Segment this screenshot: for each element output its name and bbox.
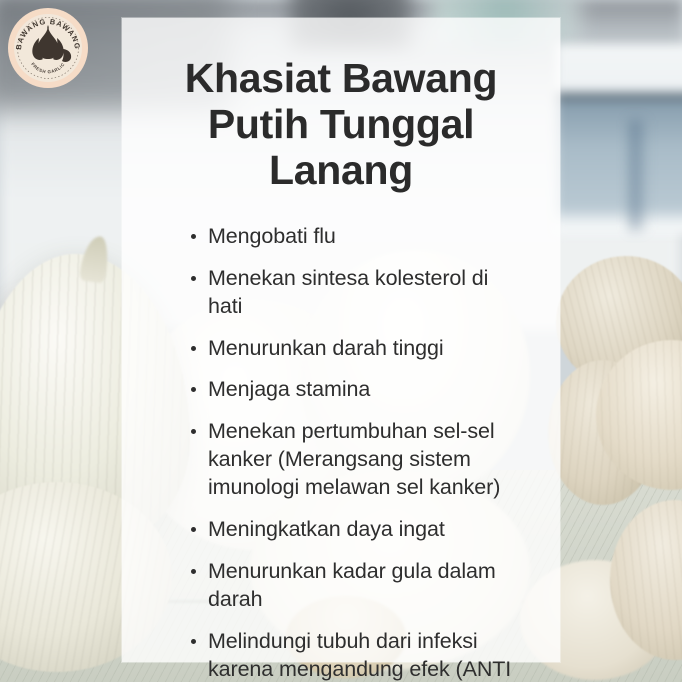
list-item: Menjaga stamina (208, 376, 528, 404)
bullet-icon (191, 346, 196, 351)
list-item: Mengobati flu (208, 223, 528, 251)
list-item: Menurunkan darah tinggi (208, 335, 528, 363)
list-item-label: Melindungi tubuh dari infeksi karena men… (208, 629, 511, 682)
bullet-icon (191, 569, 196, 574)
bullet-icon (191, 429, 196, 434)
list-item: Melindungi tubuh dari infeksi karena men… (208, 628, 528, 682)
list-item-label: Menekan sintesa kolesterol di hati (208, 266, 488, 318)
list-item: Meningkatkan daya ingat (208, 516, 528, 544)
logo-artwork: BAWANG BAWANG FRESH GARLIC (8, 8, 88, 88)
bullet-icon (191, 527, 196, 532)
brand-logo: BAWANG BAWANG FRESH GARLIC (8, 8, 88, 88)
benefits-list: Mengobati flu Menekan sintesa kolesterol… (152, 223, 530, 682)
logo-sub-label: FRESH GARLIC (30, 61, 66, 74)
blurred-appliance-shape (556, 44, 682, 234)
page-title-line: Khasiat Bawang (152, 56, 530, 102)
bullet-icon (191, 639, 196, 644)
list-item-label: Mengobati flu (208, 224, 336, 248)
bullet-icon (191, 276, 196, 281)
bullet-icon (191, 234, 196, 239)
page-title-line: Lanang (152, 148, 530, 194)
page-title: Khasiat Bawang Putih Tunggal Lanang (152, 56, 530, 194)
appliance-edge-shape (630, 120, 648, 230)
page-title-line: Putih Tunggal (152, 102, 530, 148)
list-item: Menekan sintesa kolesterol di hati (208, 265, 528, 321)
list-item-label: Menjaga stamina (208, 377, 370, 401)
list-item-label: Meningkatkan daya ingat (208, 517, 445, 541)
list-item-label: Menurunkan darah tinggi (208, 336, 444, 360)
bullet-icon (191, 387, 196, 392)
list-item: Menurunkan kadar gula dalam darah (208, 558, 528, 614)
list-item-label: Menekan pertumbuhan sel-sel kanker (Mera… (208, 419, 500, 499)
list-item-label: Menurunkan kadar gula dalam darah (208, 559, 496, 611)
content-card: Khasiat Bawang Putih Tunggal Lanang Meng… (122, 18, 560, 662)
infographic-poster: Khasiat Bawang Putih Tunggal Lanang Meng… (0, 0, 682, 682)
list-item: Menekan pertumbuhan sel-sel kanker (Mera… (208, 418, 528, 502)
